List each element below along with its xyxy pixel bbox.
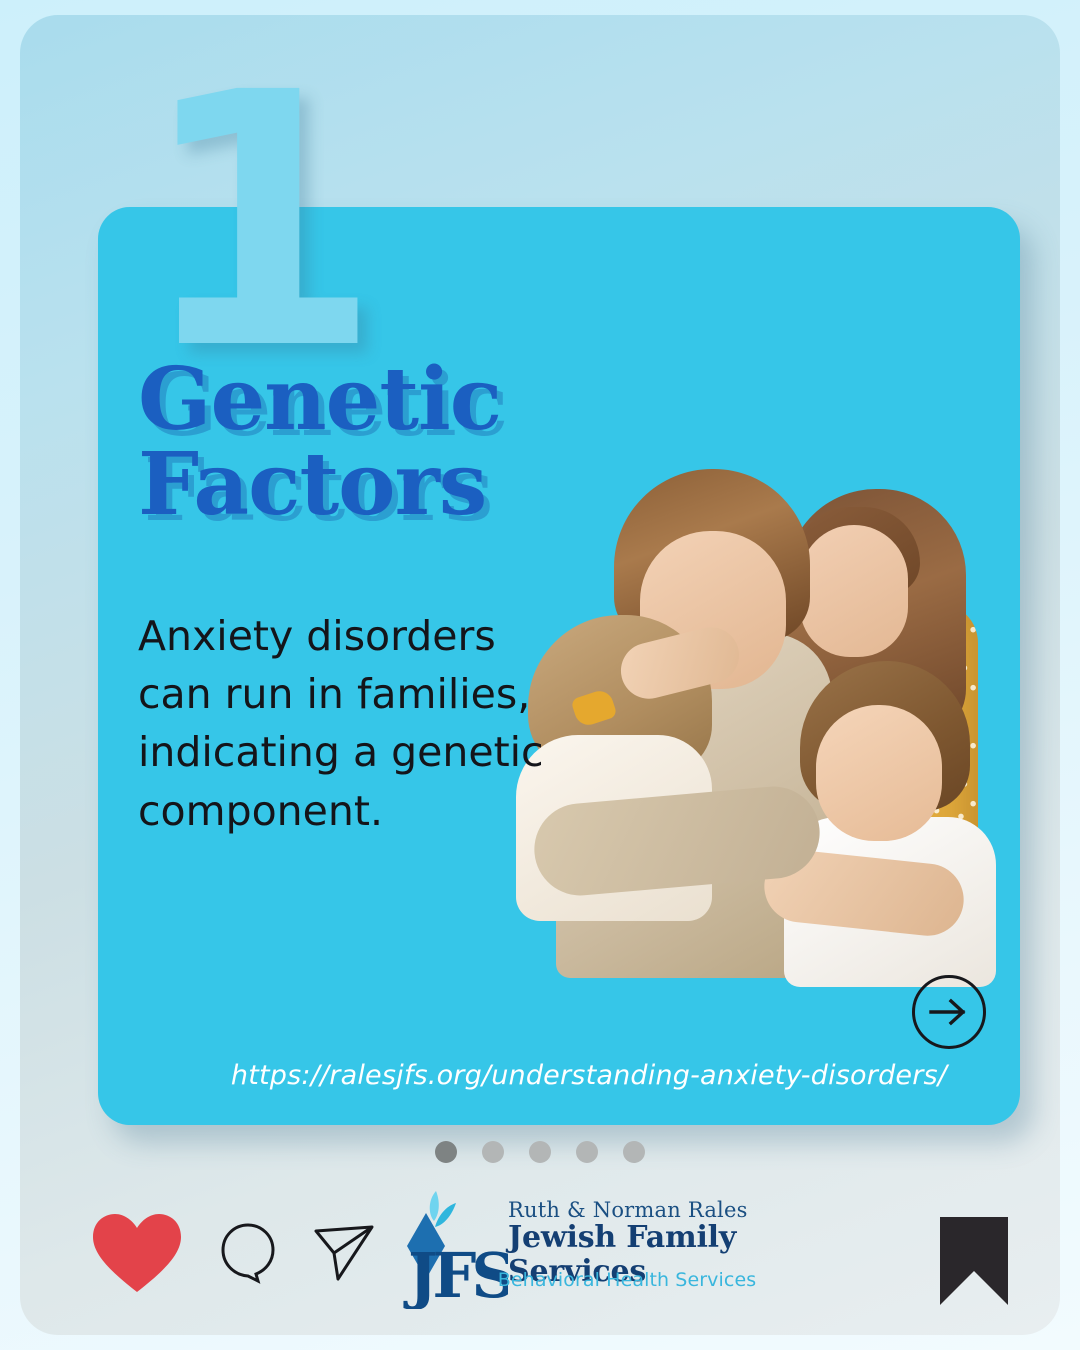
action-icon-group <box>90 1211 376 1295</box>
comment-icon[interactable] <box>218 1221 278 1285</box>
carousel-dot-5[interactable] <box>623 1141 645 1163</box>
source-url: https://ralesjfs.org/understanding-anxie… <box>98 1060 1020 1091</box>
post-panel: JFS Ruth & Norman Rales Jewish Family Se… <box>20 15 1060 1335</box>
logo-line-1: Ruth & Norman Rales <box>508 1199 760 1221</box>
next-arrow-icon[interactable] <box>912 975 986 1049</box>
logo-tagline: Behavioral Health Services <box>494 1269 760 1291</box>
slide-index-number: 1 <box>138 47 376 397</box>
svg-text:JFS: JFS <box>403 1239 508 1309</box>
jfs-logo: JFS Ruth & Norman Rales Jewish Family Se… <box>390 1171 760 1321</box>
star-of-david-icon: JFS <box>390 1187 508 1309</box>
share-icon[interactable] <box>312 1221 376 1285</box>
carousel-dot-2[interactable] <box>482 1141 504 1163</box>
carousel-dot-1[interactable] <box>435 1141 457 1163</box>
like-icon[interactable] <box>90 1211 184 1295</box>
carousel-dot-4[interactable] <box>576 1141 598 1163</box>
bookmark-icon[interactable] <box>938 1215 1010 1307</box>
family-hugging-photo <box>528 465 1020 990</box>
body-text: Anxiety disorders can run in families, i… <box>138 607 558 840</box>
carousel-dot-3[interactable] <box>529 1141 551 1163</box>
carousel-dots <box>20 1141 1060 1163</box>
